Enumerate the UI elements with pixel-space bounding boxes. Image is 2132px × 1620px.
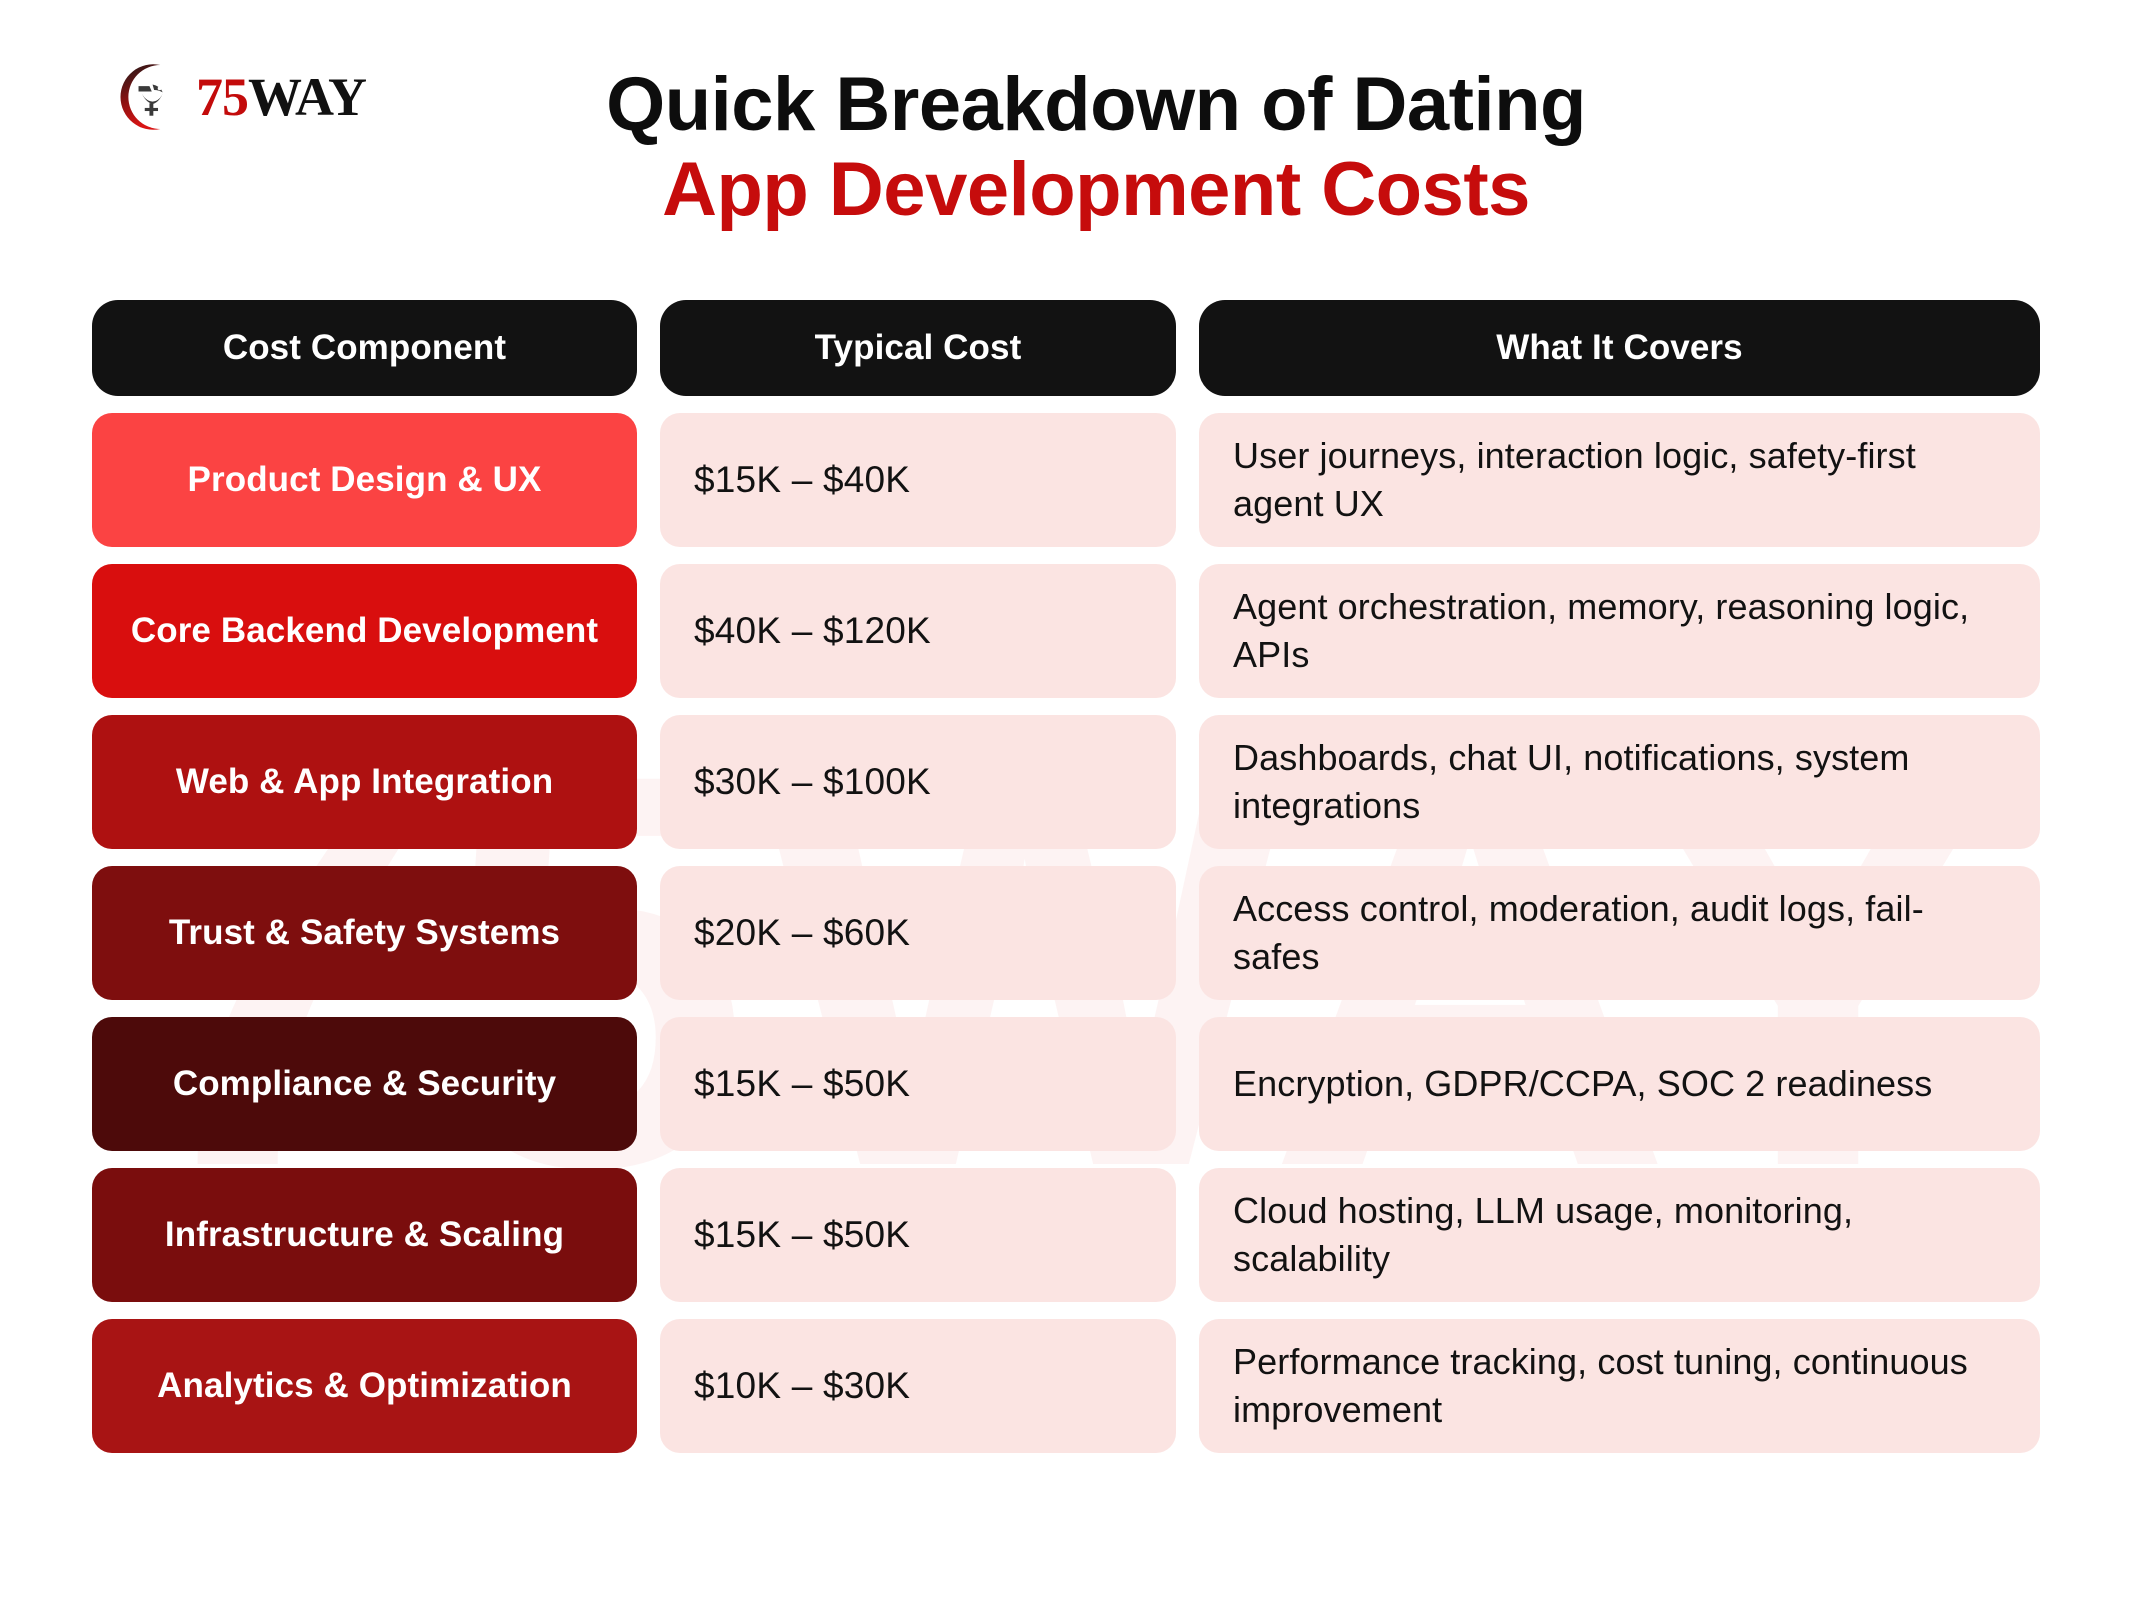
table-row: Core Backend Development $40K – $120K Ag… xyxy=(92,564,2040,698)
table-row: Product Design & UX $15K – $40K User jou… xyxy=(92,413,2040,547)
cell-covers-label: Performance tracking, cost tuning, conti… xyxy=(1233,1338,1994,1434)
cell-cost-label: $20K – $60K xyxy=(694,912,910,954)
cell-covers-label: Access control, moderation, audit logs, … xyxy=(1233,885,1994,981)
header: 75WAY Quick Breakdown of Dating App Deve… xyxy=(0,0,2132,300)
cell-covers: Agent orchestration, memory, reasoning l… xyxy=(1199,564,2040,698)
cell-component-label: Analytics & Optimization xyxy=(157,1364,572,1407)
page-title: Quick Breakdown of Dating App Developmen… xyxy=(0,62,2132,232)
cell-cost-label: $15K – $50K xyxy=(694,1063,910,1105)
cell-cost-label: $10K – $30K xyxy=(694,1365,910,1407)
column-header-typical-cost: Typical Cost xyxy=(660,300,1176,396)
cell-covers-label: Encryption, GDPR/CCPA, SOC 2 readiness xyxy=(1233,1060,1932,1108)
cell-component-label: Compliance & Security xyxy=(173,1062,556,1105)
column-header-typical-cost-label: Typical Cost xyxy=(815,328,1022,368)
cell-component-label: Core Backend Development xyxy=(131,609,598,652)
column-header-what-it-covers: What It Covers xyxy=(1199,300,2040,396)
table-row: Infrastructure & Scaling $15K – $50K Clo… xyxy=(92,1168,2040,1302)
table-row: Compliance & Security $15K – $50K Encryp… xyxy=(92,1017,2040,1151)
cell-covers: User journeys, interaction logic, safety… xyxy=(1199,413,2040,547)
cell-component-label: Trust & Safety Systems xyxy=(169,911,560,954)
cell-component: Web & App Integration xyxy=(92,715,637,849)
cell-cost-label: $40K – $120K xyxy=(694,610,931,652)
table-row: Web & App Integration $30K – $100K Dashb… xyxy=(92,715,2040,849)
cell-cost: $20K – $60K xyxy=(660,866,1176,1000)
cell-covers: Encryption, GDPR/CCPA, SOC 2 readiness xyxy=(1199,1017,2040,1151)
column-header-what-it-covers-label: What It Covers xyxy=(1496,328,1742,368)
cell-cost: $30K – $100K xyxy=(660,715,1176,849)
cell-covers: Access control, moderation, audit logs, … xyxy=(1199,866,2040,1000)
infographic-page: 75WAY xyxy=(0,0,2132,1620)
cell-cost-label: $15K – $40K xyxy=(694,459,910,501)
cell-covers-label: Agent orchestration, memory, reasoning l… xyxy=(1233,583,1994,679)
cell-covers-label: User journeys, interaction logic, safety… xyxy=(1233,432,1994,528)
cell-component-label: Web & App Integration xyxy=(176,760,553,803)
cell-cost-label: $15K – $50K xyxy=(694,1214,910,1256)
cell-covers: Cloud hosting, LLM usage, monitoring, sc… xyxy=(1199,1168,2040,1302)
cell-component: Infrastructure & Scaling xyxy=(92,1168,637,1302)
cell-covers: Dashboards, chat UI, notifications, syst… xyxy=(1199,715,2040,849)
table-header-row: Cost Component Typical Cost What It Cove… xyxy=(92,300,2040,396)
cell-component-label: Product Design & UX xyxy=(188,458,542,501)
cell-cost: $40K – $120K xyxy=(660,564,1176,698)
cell-component-label: Infrastructure & Scaling xyxy=(165,1213,564,1256)
cell-cost: $15K – $40K xyxy=(660,413,1176,547)
cell-covers: Performance tracking, cost tuning, conti… xyxy=(1199,1319,2040,1453)
cost-breakdown-table: Cost Component Typical Cost What It Cove… xyxy=(92,300,2040,1453)
cell-cost: $10K – $30K xyxy=(660,1319,1176,1453)
cell-component: Core Backend Development xyxy=(92,564,637,698)
column-header-cost-component: Cost Component xyxy=(92,300,637,396)
cell-covers-label: Dashboards, chat UI, notifications, syst… xyxy=(1233,734,1994,830)
cell-cost: $15K – $50K xyxy=(660,1168,1176,1302)
cell-covers-label: Cloud hosting, LLM usage, monitoring, sc… xyxy=(1233,1187,1994,1283)
cell-cost: $15K – $50K xyxy=(660,1017,1176,1151)
cell-component: Analytics & Optimization xyxy=(92,1319,637,1453)
page-title-line-2: App Development Costs xyxy=(60,147,2132,232)
cell-component: Trust & Safety Systems xyxy=(92,866,637,1000)
page-title-line-1: Quick Breakdown of Dating xyxy=(60,62,2132,147)
cell-cost-label: $30K – $100K xyxy=(694,761,931,803)
table-row: Trust & Safety Systems $20K – $60K Acces… xyxy=(92,866,2040,1000)
cell-component: Product Design & UX xyxy=(92,413,637,547)
cell-component: Compliance & Security xyxy=(92,1017,637,1151)
column-header-cost-component-label: Cost Component xyxy=(223,328,506,368)
table-row: Analytics & Optimization $10K – $30K Per… xyxy=(92,1319,2040,1453)
